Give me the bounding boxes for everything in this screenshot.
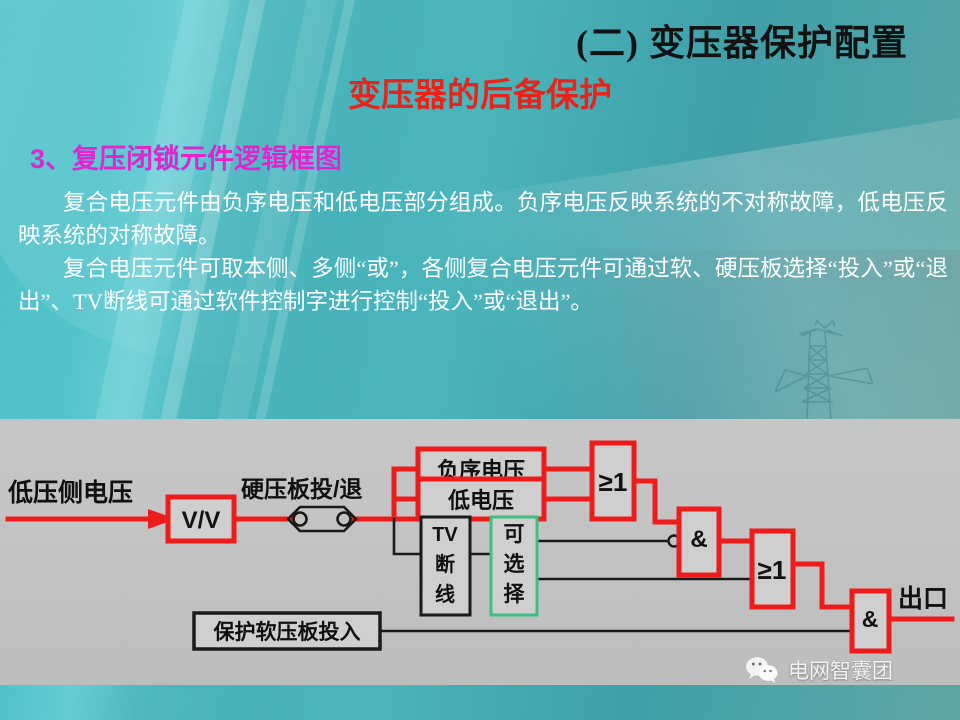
block-tv-disconnection[interactable]: TV 断 线	[421, 517, 470, 615]
block-tv-line-1: TV	[432, 524, 458, 546]
gate-or-1-symbol: ≥1	[599, 467, 628, 497]
output-label: 出口	[898, 585, 948, 613]
logic-diagram-panel: 低压侧电压 硬压板投/退 V/V 负序电压 低电压	[0, 419, 960, 685]
gate-or-2[interactable]: ≥1	[752, 531, 793, 607]
wire-or1-to-and1	[632, 481, 679, 522]
block-vv-label: V/V	[182, 507, 221, 534]
body-paragraph-2: 复合电压元件可取本侧、多侧“或”，各侧复合电压元件可通过软、硬压板选择“投入”或…	[18, 252, 948, 318]
block-optional-line-2: 选	[504, 553, 525, 576]
block-soft-plate-enabled[interactable]: 保护软压板投入	[194, 613, 380, 649]
slide-root: (二) 变压器保护配置 变压器的后备保护 3、复压闭锁元件逻辑框图 复合电压元件…	[0, 0, 960, 720]
block-optional-line-1: 可	[504, 523, 525, 546]
page-subtitle: 变压器的后备保护	[0, 68, 960, 116]
logic-diagram-svg: 低压侧电压 硬压板投/退 V/V 负序电压 低电压	[0, 419, 960, 685]
gate-and-2[interactable]: &	[852, 591, 889, 651]
block-vv[interactable]: V/V	[168, 497, 234, 541]
block-tv-line-3: 线	[435, 582, 455, 606]
gate-and-1-symbol: &	[690, 526, 707, 553]
page-title: (二) 变压器保护配置	[576, 14, 908, 66]
block-soft-plate-label: 保护软压板投入	[213, 620, 361, 644]
wire-or2-to-and2	[792, 564, 852, 607]
gate-and-1[interactable]: &	[679, 509, 719, 575]
watermark-text: 电网智囊团	[788, 655, 893, 685]
block-low-voltage[interactable]: 低电压	[418, 479, 544, 519]
section-heading: 3、复压闭锁元件逻辑框图	[30, 137, 342, 176]
block-lowvolt-label: 低电压	[447, 488, 514, 513]
body-text-block: 复合电压元件由负序电压和低电压部分组成。负序电压反映系统的不对称故障，低电压反映…	[18, 186, 948, 318]
gate-or-1[interactable]: ≥1	[592, 443, 634, 519]
block-tv-line-2: 断	[435, 552, 455, 576]
wechat-icon	[745, 656, 779, 684]
gate-and-2-symbol: &	[862, 606, 879, 632]
wire-bus-to-tvbreak	[394, 519, 421, 554]
transmission-tower-icon	[755, 318, 905, 422]
block-optional-select[interactable]: 可 选 择	[491, 517, 537, 615]
wire-bus-up-negseq	[394, 469, 418, 519]
hard-plate-label: 硬压板投/退	[241, 476, 362, 502]
gate-or-2-symbol: ≥1	[758, 555, 787, 585]
watermark: 电网智囊团	[745, 655, 893, 685]
input-label: 低压侧电压	[7, 478, 133, 507]
hard-plate-switch-icon[interactable]	[288, 507, 356, 531]
body-paragraph-1: 复合电压元件由负序电压和低电压部分组成。负序电压反映系统的不对称故障，低电压反映…	[18, 186, 948, 252]
block-optional-line-3: 择	[504, 583, 526, 606]
